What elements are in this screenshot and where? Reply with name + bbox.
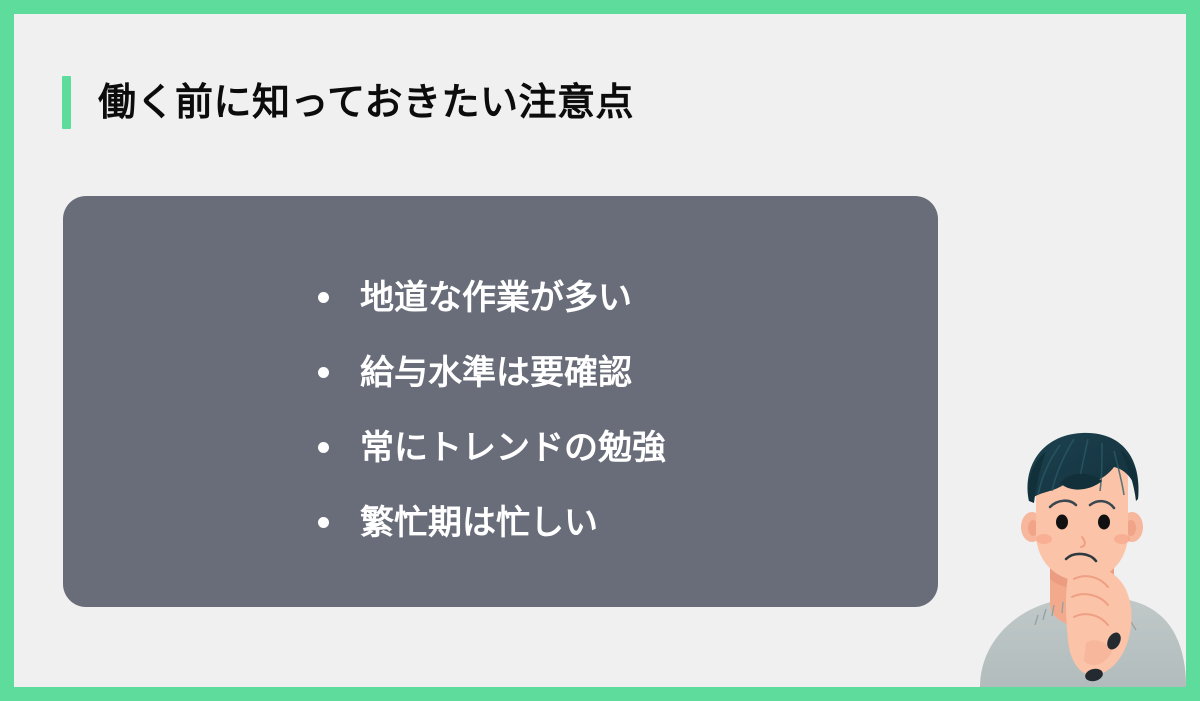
list-item-label: 給与水準は要確認 — [360, 356, 632, 390]
title-accent-bar — [62, 76, 71, 129]
thinking-man-illustration — [974, 429, 1186, 687]
left-cheek — [1036, 534, 1052, 544]
page-title: 働く前に知っておきたい注意点 — [98, 84, 634, 122]
list-item: 常にトレンドの勉強 — [318, 410, 666, 485]
list-item-label: 常にトレンドの勉強 — [360, 431, 666, 465]
slide-root: 働く前に知っておきたい注意点 地道な作業が多い 給与水準は要確認 常にトレンドの… — [0, 0, 1200, 701]
list-item-label: 地道な作業が多い — [360, 281, 632, 315]
bullet-dot-icon — [318, 442, 329, 453]
slide-canvas: 働く前に知っておきたい注意点 地道な作業が多い 給与水準は要確認 常にトレンドの… — [14, 14, 1186, 687]
list-item-label: 繁忙期は忙しい — [360, 506, 598, 540]
list-item: 地道な作業が多い — [318, 260, 666, 335]
bullet-list: 地道な作業が多い 給与水準は要確認 常にトレンドの勉強 繁忙期は忙しい — [318, 260, 666, 560]
right-cheek — [1114, 534, 1130, 544]
list-item: 繁忙期は忙しい — [318, 485, 666, 560]
right-eye — [1098, 515, 1110, 530]
bullet-dot-icon — [318, 517, 329, 528]
list-item: 給与水準は要確認 — [318, 335, 666, 410]
left-eye — [1056, 515, 1068, 530]
bullet-dot-icon — [318, 367, 329, 378]
title-row: 働く前に知っておきたい注意点 — [62, 76, 634, 129]
content-card: 地道な作業が多い 給与水準は要確認 常にトレンドの勉強 繁忙期は忙しい — [63, 196, 938, 607]
bullet-dot-icon — [318, 292, 329, 303]
